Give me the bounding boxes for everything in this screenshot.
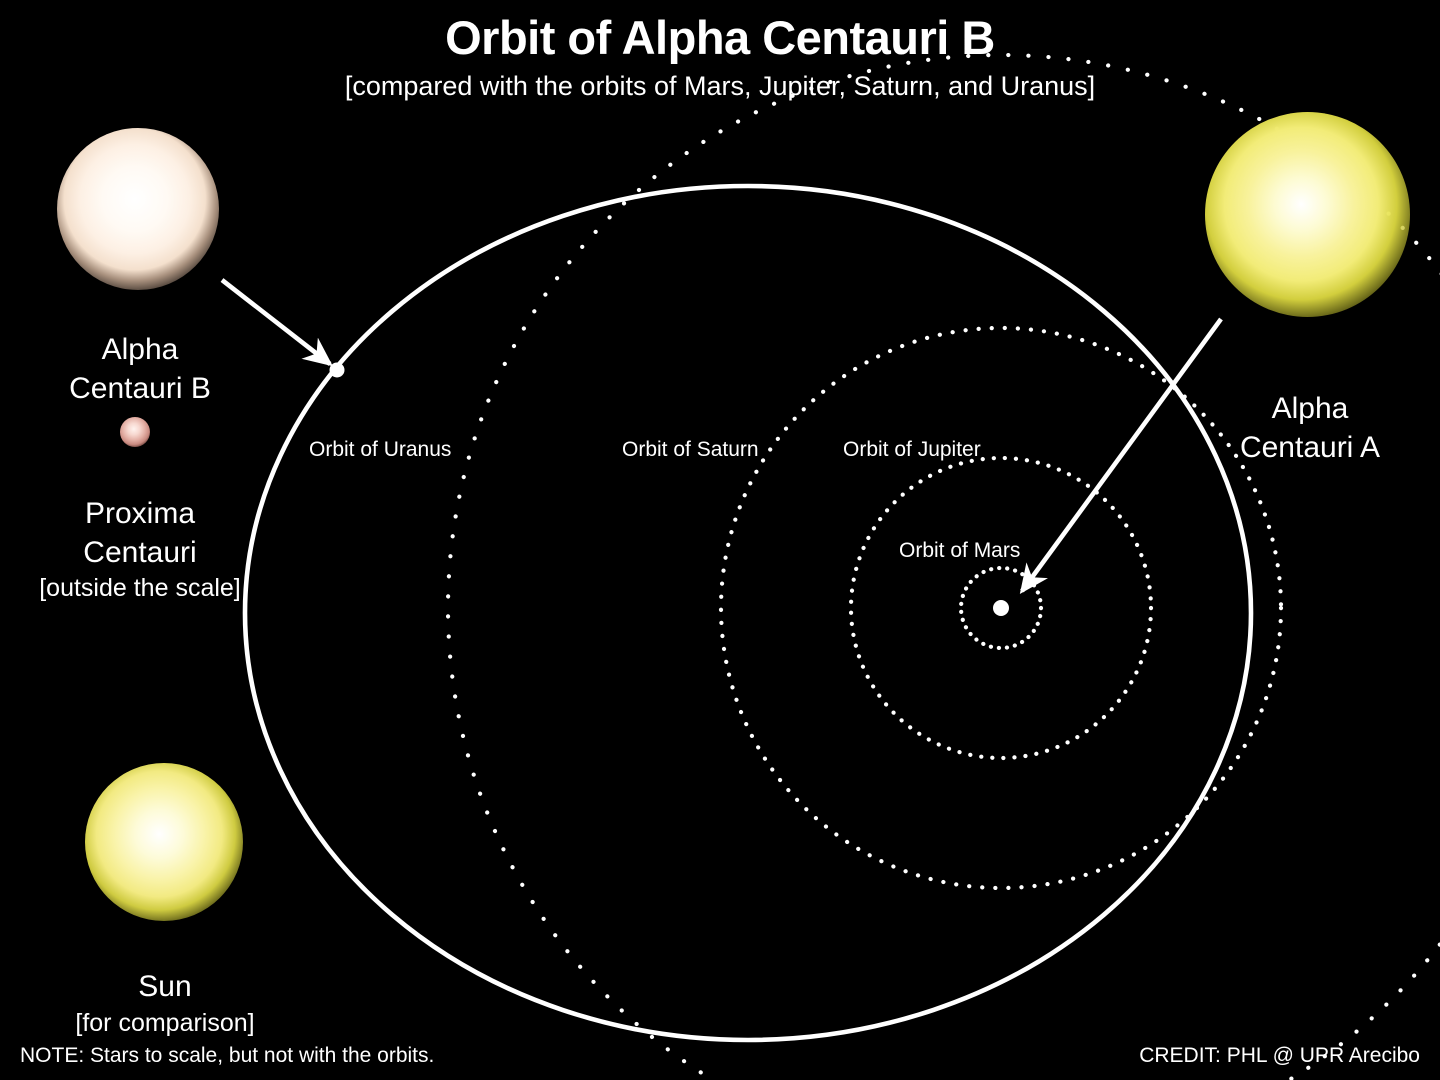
orbit-label-uranus: Orbit of Uranus bbox=[309, 438, 451, 462]
star-label-alpha-centauri-b-name: Alpha Centauri B bbox=[69, 333, 211, 404]
star-label-proxima-centauri-name: Proxima Centauri bbox=[83, 497, 196, 568]
footer-note: NOTE: Stars to scale, but not with the o… bbox=[20, 1044, 434, 1068]
title-block: Orbit of Alpha Centauri B [compared with… bbox=[0, 14, 1440, 100]
star-sun bbox=[85, 763, 243, 921]
star-label-sun-note: [for comparison] bbox=[45, 1007, 285, 1039]
orbit-path-alpha-centauri-b bbox=[245, 186, 1251, 1040]
star-label-proxima-centauri-note: [outside the scale] bbox=[10, 572, 270, 604]
central-star-marker bbox=[993, 600, 1009, 616]
orbit-label-mars: Orbit of Mars bbox=[899, 539, 1020, 563]
star-proxima-centauri bbox=[120, 417, 150, 447]
orbit-label-saturn: Orbit of Saturn bbox=[622, 438, 759, 462]
star-label-proxima-centauri: Proxima Centauri [outside the scale] bbox=[10, 457, 270, 643]
star-label-alpha-centauri-a: Alpha Centauri A bbox=[1185, 352, 1435, 467]
star-label-alpha-centauri-a-name: Alpha Centauri A bbox=[1240, 392, 1380, 463]
diagram-canvas: Orbit of Alpha Centauri B [compared with… bbox=[0, 0, 1440, 1080]
page-subtitle: [compared with the orbits of Mars, Jupit… bbox=[0, 72, 1440, 100]
star-alpha-centauri-b bbox=[57, 128, 219, 290]
page-title: Orbit of Alpha Centauri B bbox=[0, 14, 1440, 62]
orbit-label-jupiter: Orbit of Jupiter bbox=[843, 438, 981, 462]
alpha-centauri-b-position-marker bbox=[330, 363, 345, 378]
star-label-sun-name: Sun bbox=[138, 970, 191, 1003]
footer-credit: CREDIT: PHL @ UPR Arecibo bbox=[1139, 1044, 1420, 1068]
star-label-alpha-centauri-b: Alpha Centauri B bbox=[25, 293, 255, 408]
star-alpha-centauri-a bbox=[1205, 112, 1410, 317]
